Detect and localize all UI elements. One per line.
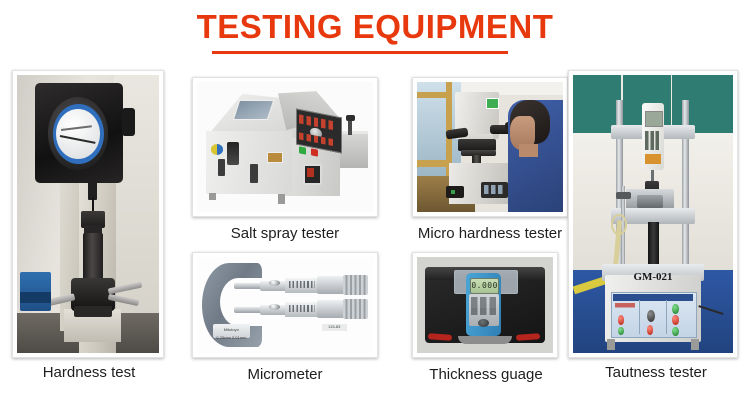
micrometer-model-label: 115-83 [322,324,347,331]
page-title: TESTING EQUIPMENT [0,8,750,46]
photo-card-thickness-guage[interactable]: 0.000 [412,252,558,358]
photo-micro-hardness-tester [417,82,563,212]
photo-thickness-guage: 0.000 [417,257,553,353]
caption-hardness-test: Hardness test [0,364,178,382]
photo-card-salt-spray-tester[interactable] [192,77,378,217]
micrometer-brand-label: Mitutoyo 0-25mm 0.01mm [213,324,250,337]
photo-card-micro-hardness-tester[interactable] [412,77,568,217]
testing-equipment-gallery: TESTING EQUIPMENT [0,0,750,406]
photo-card-micrometer[interactable]: Mitutoyo 0-25mm 0.01mm 115-83 [192,252,378,358]
caption-salt-spray-tester: Salt spray tester [185,225,385,243]
photo-micrometer: Mitutoyo 0-25mm 0.01mm 115-83 [197,257,373,353]
caption-tautness-tester: Tautness tester [572,364,740,382]
tautness-tester-model-label: GM-021 [605,271,701,290]
photo-salt-spray-tester [197,82,373,212]
page-header: TESTING EQUIPMENT [0,8,750,46]
photo-hardness-test [17,75,159,353]
title-underline-rule [212,51,508,54]
photo-card-tautness-tester[interactable]: GM-021 [568,70,738,358]
photo-tautness-tester: GM-021 [573,75,733,353]
caption-micrometer: Micrometer [185,366,385,384]
photo-card-hardness-test[interactable] [12,70,164,358]
caption-micro-hardness-tester: Micro hardness tester [398,225,582,243]
caption-thickness-guage: Thickness guage [398,366,574,384]
thickness-guage-lcd: 0.000 [470,278,499,293]
